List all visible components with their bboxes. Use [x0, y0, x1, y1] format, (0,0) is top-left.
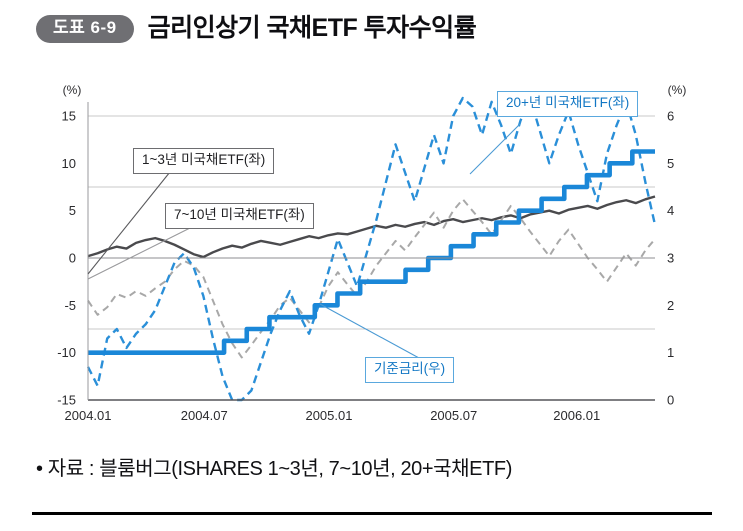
tick-label: -15 — [57, 393, 76, 408]
tick-label: 0 — [667, 393, 674, 408]
tick-label: 1 — [667, 345, 674, 360]
callout-leader-line — [320, 304, 430, 364]
source-footnote: • 자료 : 블룸버그(ISHARES 1~3년, 7~10년, 20+국채ET… — [36, 452, 512, 481]
tick-label: (%) — [668, 83, 687, 97]
page-title: 금리인상기 국채ETF 투자수익률 — [148, 15, 477, 43]
tick-label: 2 — [667, 298, 674, 313]
tick-label: 2005.07 — [430, 408, 477, 423]
chart-axes — [88, 102, 655, 400]
chart-container: (%)151050-5-10-15(%)65432102004.012004.0… — [0, 64, 743, 434]
tick-label: 15 — [62, 109, 76, 124]
tick-label: 2005.01 — [305, 408, 352, 423]
chart-series-layer — [88, 98, 655, 400]
series-policy-rate — [88, 152, 655, 353]
tick-label: -10 — [57, 345, 76, 360]
page-header: 도표 6-9 금리인상기 국채ETF 투자수익률 — [0, 0, 743, 44]
callout-policy-rate: 기준금리(우) — [365, 357, 454, 383]
tick-label: 2004.01 — [65, 408, 112, 423]
tick-label: 0 — [69, 251, 76, 266]
tick-label: 5 — [667, 156, 674, 171]
bottom-divider — [32, 512, 712, 515]
tick-label: 6 — [667, 109, 674, 124]
tick-label: 5 — [69, 203, 76, 218]
tick-label: -5 — [64, 298, 76, 313]
callout-mid-etf: 7~10년 미국채ETF(좌) — [165, 203, 314, 229]
callout-short-etf: 1~3년 미국채ETF(좌) — [133, 148, 274, 174]
tick-label: 2006.01 — [553, 408, 600, 423]
tick-label: 4 — [667, 203, 674, 218]
tick-label: (%) — [63, 83, 82, 97]
tick-label: 10 — [62, 156, 76, 171]
tick-label: 3 — [667, 251, 674, 266]
callout-long-etf: 20+년 미국채ETF(좌) — [497, 91, 638, 117]
tick-label: 2004.07 — [181, 408, 228, 423]
figure-badge: 도표 6-9 — [36, 15, 134, 43]
